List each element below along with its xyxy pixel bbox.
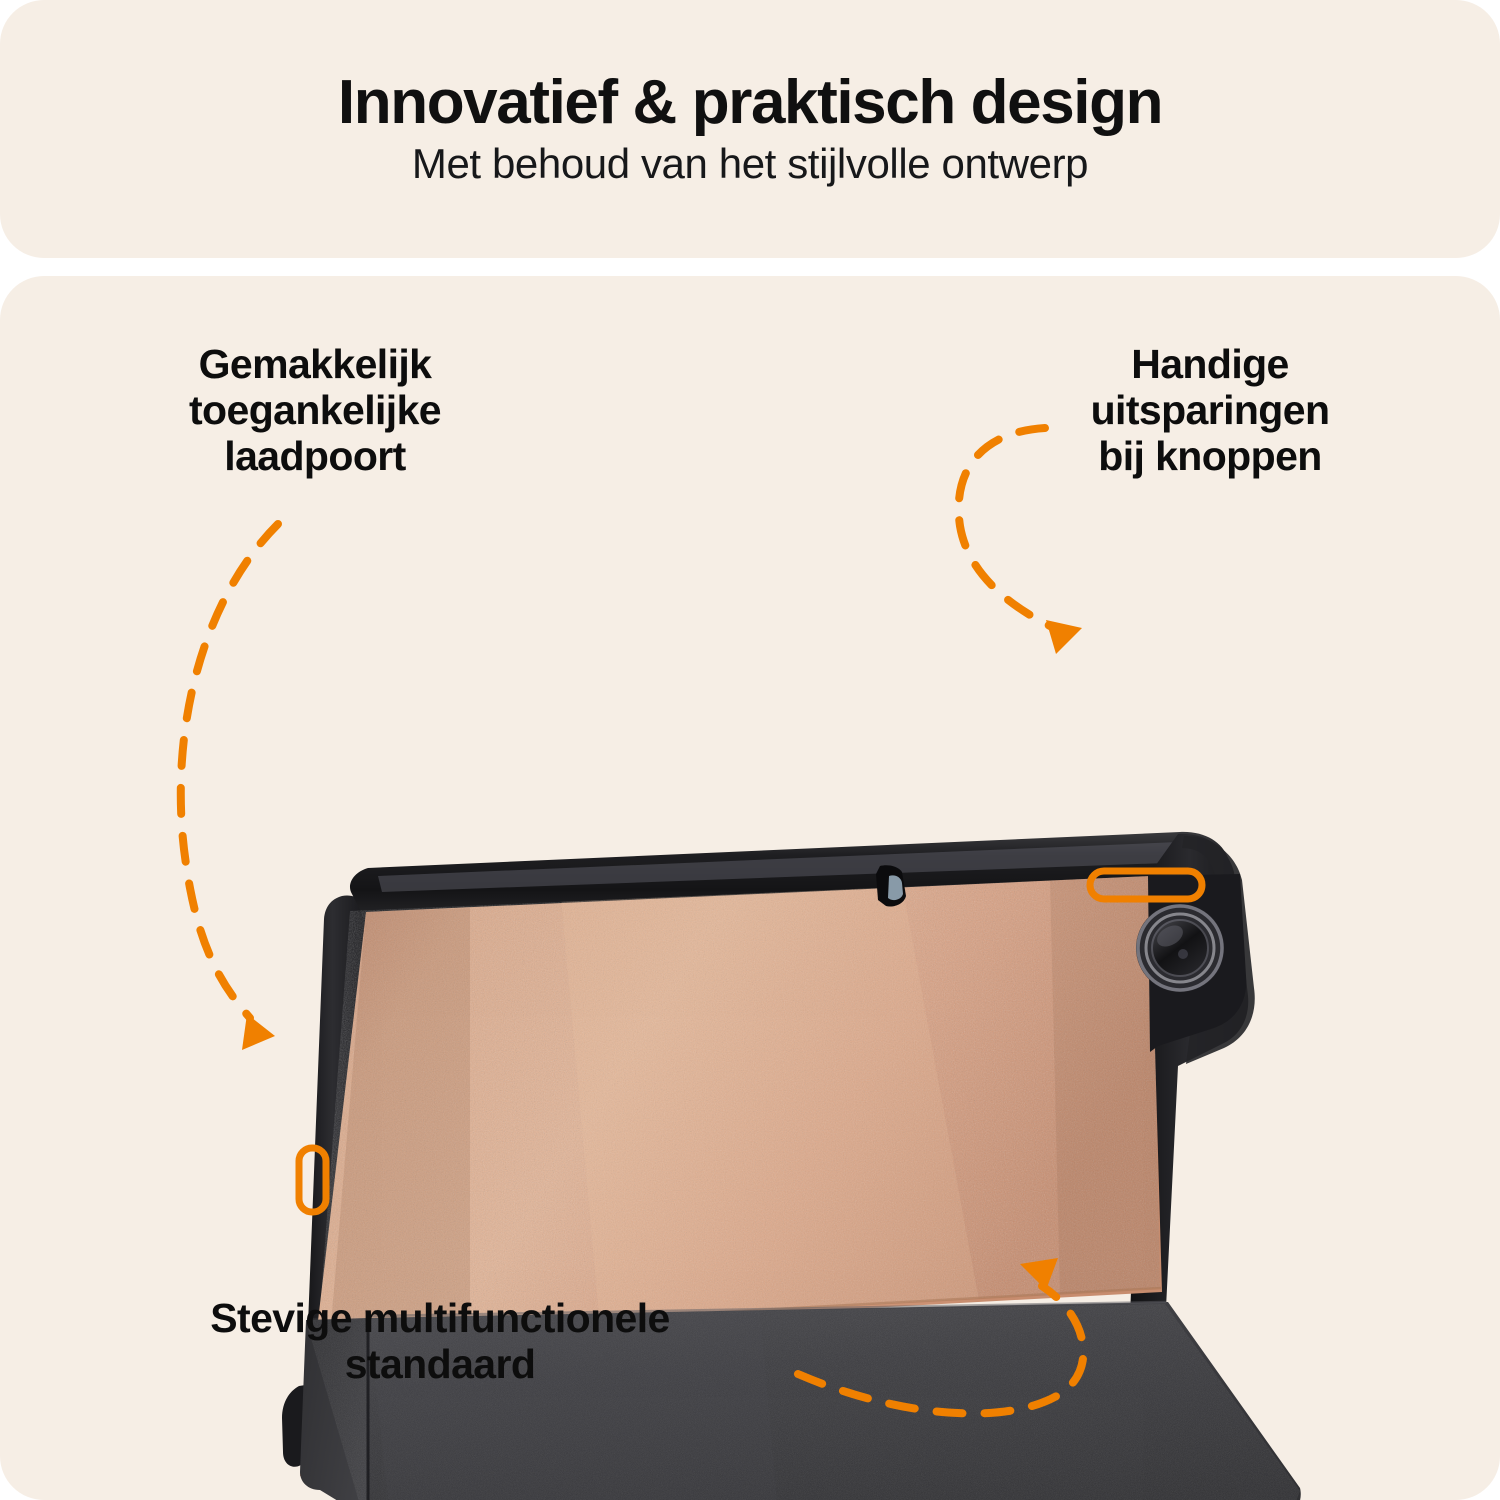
callout-button-cutouts: Handige uitsparingen bij knoppen <box>1000 342 1420 480</box>
page-subtitle: Met behoud van het stijlvolle ontwerp <box>412 141 1088 187</box>
page-title: Innovatief & praktisch design <box>338 70 1162 135</box>
top-edge-notch <box>876 865 906 906</box>
leather-texture <box>300 856 1200 1356</box>
callout-stand: Stevige multifunctionele standaard <box>110 1296 770 1388</box>
product-feature-graphic: Innovatief & praktisch design Met behoud… <box>0 0 1500 1500</box>
camera-lens <box>1136 904 1224 992</box>
callout-charging-port: Gemakkelijk toegankelijke laadpoort <box>105 342 525 480</box>
arrow-to-charging-port <box>181 524 278 1050</box>
product-showcase-card: Gemakkelijk toegankelijke laadpoort Hand… <box>0 276 1500 1500</box>
header-card: Innovatief & praktisch design Met behoud… <box>0 0 1500 258</box>
